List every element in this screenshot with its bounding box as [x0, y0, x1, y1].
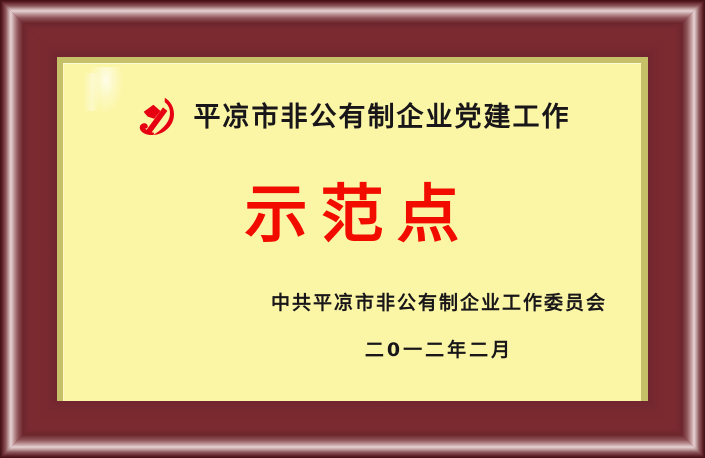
hammer-and-sickle-emblem-icon	[134, 96, 178, 138]
plaque-title-row: 平凉市非公有制企业党建工作	[63, 96, 641, 138]
issue-date: 二0一二年二月	[271, 341, 607, 360]
issuing-authority: 中共平凉市非公有制企业工作委员会	[271, 294, 607, 313]
award-plaque-image: 平凉市非公有制企业党建工作 示范点 中共平凉市非公有制企业工作委员会 二0一二年…	[0, 0, 705, 458]
award-designation-text: 示范点	[63, 183, 641, 246]
plaque-title: 平凉市非公有制企业党建工作	[194, 104, 571, 131]
issuer-block: 中共平凉市非公有制企业工作委员会 二0一二年二月	[271, 294, 607, 360]
plaque-panel: 平凉市非公有制企业党建工作 示范点 中共平凉市非公有制企业工作委员会 二0一二年…	[63, 63, 641, 401]
